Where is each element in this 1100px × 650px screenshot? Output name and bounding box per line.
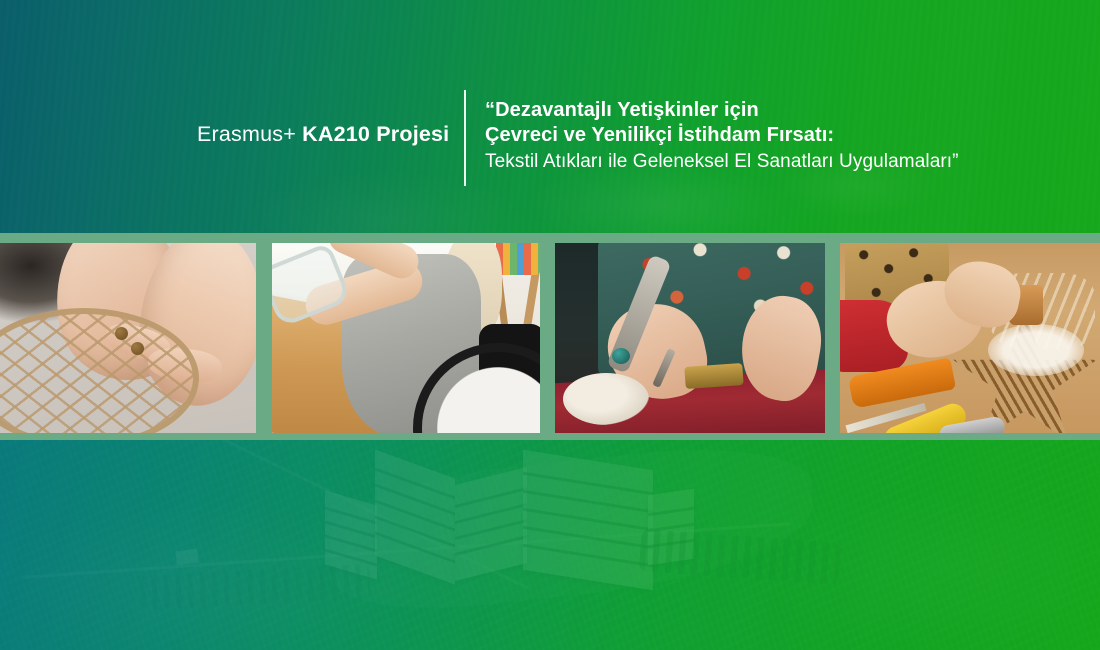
project-title-line-2: Çevreci ve Yenilikçi İstihdam Fırsatı: (485, 123, 1085, 148)
erasmus-project-banner: Erasmus+ KA210 Projesi “Dezavantajlı Yet… (0, 0, 1100, 650)
brand-prefix: Erasmus+ (197, 122, 302, 146)
bottom-green-wash (0, 440, 1100, 650)
brand-line: Erasmus+ KA210 Projesi (197, 124, 449, 146)
project-title-line-3: Tekstil Atıkları ile Geleneksel El Sanat… (485, 148, 1085, 175)
project-title-line-1: “Dezavantajlı Yetişkinler için (485, 98, 1085, 123)
photo-macrame-dreamcatcher (0, 243, 256, 433)
photo-wheelchair-craft-worker (272, 243, 540, 433)
brand-code: KA210 Projesi (302, 122, 449, 146)
vertical-divider (464, 90, 466, 186)
aerial-campus-photo (0, 440, 1100, 650)
photo-strip (0, 233, 1100, 440)
bottom-aerial-band (0, 440, 1100, 650)
project-title-block: “Dezavantajlı Yetişkinler için Çevreci v… (485, 98, 1085, 175)
photo-glue-gun-textile (555, 243, 825, 433)
header-band: Erasmus+ KA210 Projesi “Dezavantajlı Yet… (0, 0, 1100, 233)
photo-wicker-star-craft (840, 243, 1100, 433)
